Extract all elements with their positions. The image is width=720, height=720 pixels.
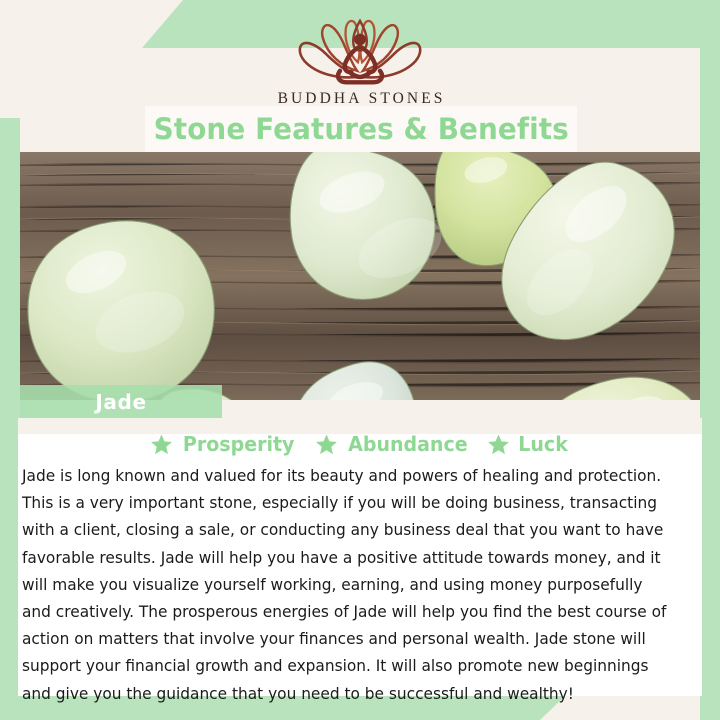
infographic-page: BUDDHA STONES Stone Features & Benefits (0, 0, 720, 720)
stone-label: Jade (95, 390, 146, 414)
left-green-strip (0, 118, 20, 720)
content-panel: Prosperity Abundance Luck Jade is long k… (18, 418, 702, 696)
benefit-label: Prosperity (183, 432, 295, 456)
benefit-label: Luck (519, 432, 569, 456)
benefits-row: Prosperity Abundance Luck (18, 432, 702, 456)
benefit-label: Abundance (348, 432, 467, 456)
page-title: Stone Features & Benefits (153, 112, 568, 146)
lotus-meditation-icon (272, 8, 448, 88)
star-icon (315, 433, 338, 456)
stone-description: Jade is long known and valued for its be… (22, 462, 669, 707)
benefit-prosperity: Prosperity (150, 432, 297, 456)
stone-photo (0, 152, 720, 400)
benefit-abundance: Abundance (315, 432, 471, 456)
right-green-strip (700, 0, 720, 720)
stone-photo-illustration (0, 152, 720, 400)
title-banner: Stone Features & Benefits (145, 106, 577, 152)
benefit-luck: Luck (487, 432, 569, 456)
stone-label-band: Jade (20, 385, 222, 418)
star-icon (487, 433, 510, 456)
star-icon (150, 433, 173, 456)
brand-logo: BUDDHA STONES (0, 8, 720, 108)
